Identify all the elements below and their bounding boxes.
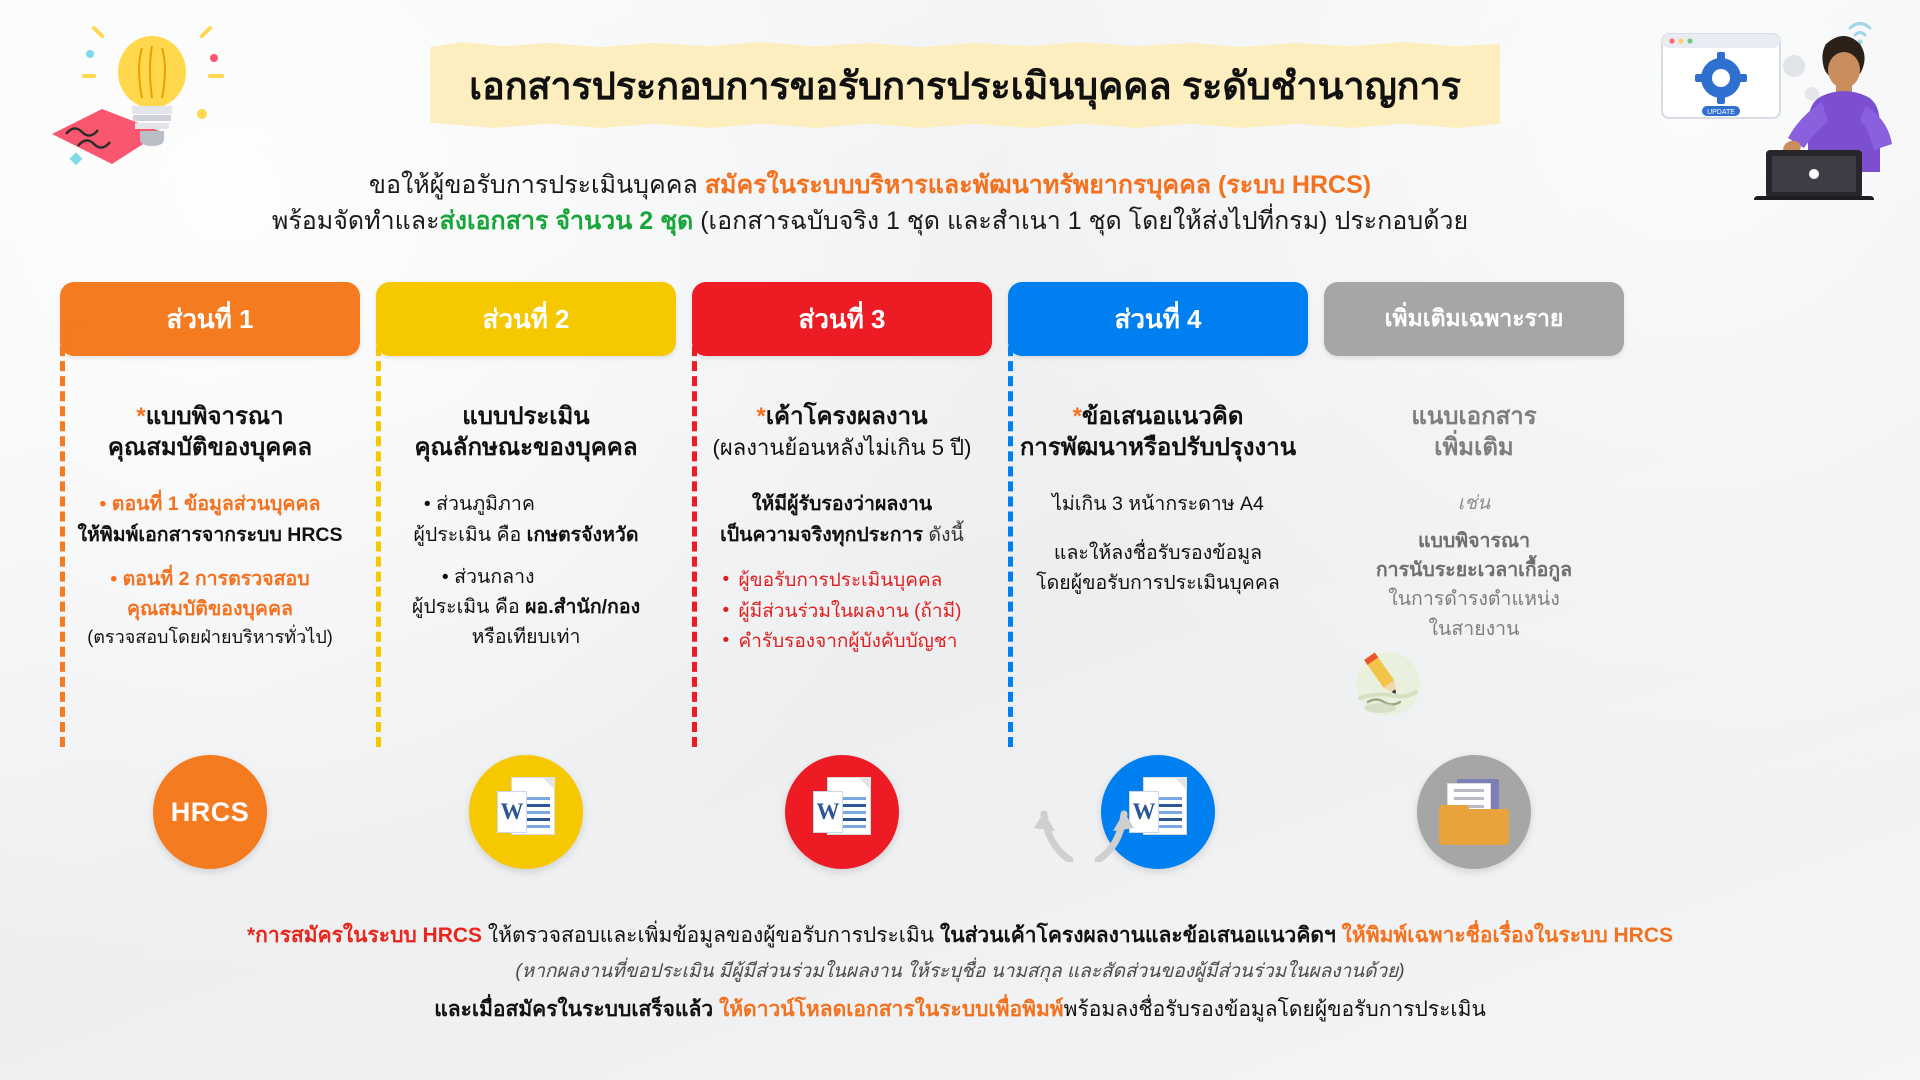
rail-1 [60, 320, 84, 748]
subtitle-line-2: พร้อมจัดทำและส่งเอกสาร จำนวน 2 ชุด (เอกส… [210, 204, 1530, 240]
section-title-5: แนบเอกสาร เพิ่มเติม [1328, 402, 1620, 463]
footer-line-1-c: ในส่วนเค้าโครงผลงานและข้อเสนอแนวคิดฯ [940, 924, 1342, 947]
hrcs-circle-label: HRCS [171, 797, 250, 828]
footer-line-1-a: *การสมัครในระบบ HRCS [247, 924, 482, 947]
page-title: เอกสารประกอบการขอรับการประเมินบุคคล ระดั… [469, 55, 1461, 116]
detail-3-item-1: เป็นความจริงทุกประการ ดังนี้ [696, 520, 988, 550]
detail-2-item-0: • ส่วนภูมิภาค [424, 489, 640, 519]
subtitle-line-1: ขอให้ผู้ขอรับการประเมินบุคคล สมัครในระบบ… [210, 168, 1530, 204]
required-star-3: * [756, 403, 765, 430]
section-title-3-line2: (ผลงานย้อนหลังไม่เกิน 5 ปี) [713, 435, 972, 460]
section-title-4-line2: การพัฒนาหรือปรับปรุงงาน [1020, 434, 1296, 461]
section-pill-1-label: ส่วนที่ 1 [166, 299, 253, 340]
word-doc-glyph-3: W [813, 777, 871, 847]
red-bullet-2: คำรับรองจากผู้บังคับบัญชา [723, 627, 962, 658]
detail-2-item-4: ผู้ประเมิน คือ ผอ.สำนัก/กอง [412, 592, 640, 622]
detail-2-spacer [424, 550, 640, 562]
footer-line-1-d: ให้พิมพ์เฉพาะชื่อเรื่องในระบบ HRCS [1342, 924, 1673, 947]
section-detail-4: ไม่เกิน 3 หน้ากระดาษ A4 และให้ลงชื่อรับร… [1012, 489, 1304, 598]
detail-2-group: • ส่วนภูมิภาค ผู้ประเมิน คือ เกษตรจังหวั… [424, 489, 640, 652]
section-title-1: *แบบพิจารณา คุณสมบัติของบุคคล [64, 402, 356, 463]
word-doc-icon-3[interactable]: W [785, 755, 899, 869]
word-doc-icon-2[interactable]: W [469, 755, 583, 869]
section-detail-5: เช่น แบบพิจารณา การนับระยะเวลาเกื้อกูล ใ… [1328, 489, 1620, 643]
detail-1-item-4: คุณสมบัติของบุคคล [64, 594, 356, 624]
detail-5-item-3: ในการดำรงตำแหน่ง [1328, 585, 1620, 614]
footer-line-3-c: พร้อมลงชื่อรับรองข้อมูลโดยผู้ขอรับการประ… [1064, 998, 1486, 1021]
required-star-1: * [136, 403, 145, 430]
section-detail-2: • ส่วนภูมิภาค ผู้ประเมิน คือ เกษตรจังหวั… [380, 489, 672, 652]
section-pill-2-label: ส่วนที่ 2 [482, 299, 569, 340]
subtitle-line-2-highlight: ส่งเอกสาร จำนวน 2 ชุด [440, 207, 694, 235]
section-title-4: *ข้อเสนอแนวคิด การพัฒนาหรือปรับปรุงงาน [1012, 402, 1304, 463]
detail-1-spacer [64, 550, 356, 564]
icons-row: HRCS W W W [60, 752, 1860, 872]
folder-documents-icon[interactable] [1417, 755, 1531, 869]
detail-2-item-5: หรือเทียบเท่า [412, 622, 640, 652]
section-title-4-line1: ข้อเสนอแนวคิด [1082, 403, 1243, 430]
folder-glyph [1439, 779, 1509, 845]
required-star-4: * [1073, 403, 1082, 430]
detail-4-spacer [1012, 520, 1304, 538]
section-body-4: *ข้อเสนอแนวคิด การพัฒนาหรือปรับปรุงงาน ไ… [1008, 402, 1308, 598]
section-title-3-line1: เค้าโครงผลงาน [766, 403, 928, 430]
detail-1-item-3: • ตอนที่ 2 การตรวจสอบ [64, 564, 356, 594]
section-pill-5-label: เพิ่มเติมเฉพาะราย [1385, 301, 1564, 337]
section-pill-3[interactable]: ส่วนที่ 3 [692, 282, 992, 356]
section-title-1-line1: แบบพิจารณา [146, 403, 284, 430]
subtitle-block: ขอให้ผู้ขอรับการประเมินบุคคล สมัครในระบบ… [210, 168, 1530, 239]
detail-1-item-5: (ตรวจสอบโดยฝ่ายบริหารทั่วไป) [64, 624, 356, 652]
detail-5-spacer [1328, 519, 1620, 527]
word-doc-glyph-2: W [497, 777, 555, 847]
rail-4 [1008, 320, 1032, 748]
curved-converging-arrows-icon [1010, 772, 1158, 862]
icon-cell-3: W [692, 752, 992, 872]
section-column-2: ส่วนที่ 2 แบบประเมิน คุณลักษณะของบุคคล •… [376, 282, 676, 782]
footer-line-3-b: ให้ดาวน์โหลดเอกสารในระบบเพื่อพิมพ์ [719, 998, 1064, 1021]
footer-line-3: และเมื่อสมัครในระบบเสร็จแล้ว ให้ดาวน์โหล… [60, 994, 1860, 1026]
subtitle-line-1-highlight: สมัครในระบบบริหารและพัฒนาทรัพยากรบุคคล (… [705, 171, 1371, 199]
section-title-2-line1: แบบประเมิน [462, 403, 589, 430]
word-letter-3: W [813, 791, 843, 833]
section-column-3: ส่วนที่ 3 *เค้าโครงผลงาน (ผลงานย้อนหลังไ… [692, 282, 992, 782]
section-pill-5[interactable]: เพิ่มเติมเฉพาะราย [1324, 282, 1624, 356]
detail-3-item-0: ให้มีผู้รับรองว่าผลงาน [696, 489, 988, 519]
detail-2-item-3: • ส่วนกลาง [442, 562, 640, 592]
section-3-red-bullets: ผู้ขอรับการประเมินบุคคล ผู้มีส่วนร่วมในผ… [723, 566, 962, 658]
detail-4-item-2: และให้ลงชื่อรับรองข้อมูล [1012, 538, 1304, 568]
hrcs-circle-icon[interactable]: HRCS [153, 755, 267, 869]
section-body-5: แนบเอกสาร เพิ่มเติม เช่น แบบพิจารณา การน… [1324, 402, 1624, 644]
footer-line-3-a: และเมื่อสมัครในระบบเสร็จแล้ว [434, 998, 719, 1021]
section-title-5-line2: เพิ่มเติม [1434, 434, 1513, 461]
section-body-3: *เค้าโครงผลงาน (ผลงานย้อนหลังไม่เกิน 5 ป… [692, 402, 992, 658]
section-pill-4[interactable]: ส่วนที่ 4 [1008, 282, 1308, 356]
rail-3 [692, 320, 716, 748]
detail-1-item-0: • ตอนที่ 1 ข้อมูลส่วนบุคคล [64, 489, 356, 519]
icon-cell-5 [1324, 752, 1624, 872]
section-body-1: *แบบพิจารณา คุณสมบัติของบุคคล • ตอนที่ 1… [60, 402, 360, 652]
svg-text:UPDATE: UPDATE [1707, 109, 1735, 116]
section-pill-3-label: ส่วนที่ 3 [798, 299, 885, 340]
section-title-1-line2: คุณสมบัติของบุคคล [108, 434, 312, 461]
section-title-3: *เค้าโครงผลงาน (ผลงานย้อนหลังไม่เกิน 5 ป… [696, 402, 988, 463]
red-bullet-0: ผู้ขอรับการประเมินบุคคล [723, 566, 962, 597]
title-banner: เอกสารประกอบการขอรับการประเมินบุคคล ระดั… [430, 42, 1500, 128]
sections-row: ส่วนที่ 1 *แบบพิจารณา คุณสมบัติของบุคคล … [60, 282, 1860, 782]
section-detail-3: ให้มีผู้รับรองว่าผลงาน เป็นความจริงทุกปร… [696, 489, 988, 658]
subtitle-line-2-plain-a: พร้อมจัดทำและ [272, 207, 440, 235]
section-title-2-line2: คุณลักษณะของบุคคล [414, 434, 637, 461]
detail-4-item-0: ไม่เกิน 3 หน้ากระดาษ A4 [1012, 489, 1304, 519]
rail-2 [376, 320, 400, 748]
subtitle-line-2-plain-b: (เอกสารฉบับจริง 1 ชุด และสำเนา 1 ชุด โดย… [693, 207, 1468, 235]
detail-5-item-0: เช่น [1328, 489, 1620, 518]
footer-line-1-b: ให้ตรวจสอบและเพิ่มข้อมูลของผู้ขอรับการปร… [482, 924, 940, 947]
subtitle-line-1-plain: ขอให้ผู้ขอรับการประเมินบุคคล [369, 171, 705, 199]
section-pill-4-label: ส่วนที่ 4 [1114, 299, 1201, 340]
footer-line-2: (หากผลงานที่ขอประเมิน มีผู้มีส่วนร่วมในผ… [60, 958, 1860, 987]
red-bullet-1: ผู้มีส่วนร่วมในผลงาน (ถ้ามี) [723, 597, 962, 628]
word-letter-2: W [497, 791, 527, 833]
detail-2-item-1: ผู้ประเมิน คือ เกษตรจังหวัด [412, 520, 640, 550]
footer-line-1: *การสมัครในระบบ HRCS ให้ตรวจสอบและเพิ่มข… [60, 920, 1860, 952]
icon-cell-2: W [376, 752, 676, 872]
section-pill-2[interactable]: ส่วนที่ 2 [376, 282, 676, 356]
detail-4-item-3: โดยผู้ขอรับการประเมินบุคคล [1012, 568, 1304, 598]
section-column-4: ส่วนที่ 4 *ข้อเสนอแนวคิด การพัฒนาหรือปรั… [1008, 282, 1308, 782]
detail-1-item-1: ให้พิมพ์เอกสารจากระบบ HRCS [64, 520, 356, 550]
section-body-2: แบบประเมิน คุณลักษณะของบุคคล • ส่วนภูมิภ… [376, 402, 676, 653]
pencil-signature-icon [1340, 640, 1436, 720]
section-pill-1[interactable]: ส่วนที่ 1 [60, 282, 360, 356]
section-column-1: ส่วนที่ 1 *แบบพิจารณา คุณสมบัติของบุคคล … [60, 282, 360, 782]
section-detail-1: • ตอนที่ 1 ข้อมูลส่วนบุคคล ให้พิมพ์เอกสา… [64, 489, 356, 652]
footer-notes: *การสมัครในระบบ HRCS ให้ตรวจสอบและเพิ่มข… [60, 920, 1860, 1026]
icon-cell-1: HRCS [60, 752, 360, 872]
detail-5-item-2: การนับระยะเวลาเกื้อกูล [1328, 556, 1620, 585]
section-title-2: แบบประเมิน คุณลักษณะของบุคคล [380, 402, 672, 463]
section-title-5-line1: แนบเอกสาร [1411, 403, 1536, 430]
detail-5-item-1: แบบพิจารณา [1328, 527, 1620, 556]
person-with-laptop-icon: UPDATE [1654, 10, 1904, 200]
